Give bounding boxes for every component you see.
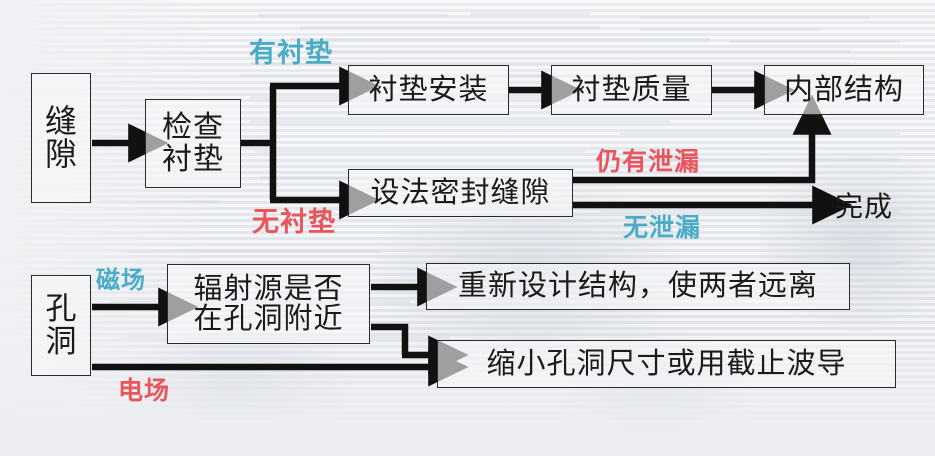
node-internal-structure-label: 内部结构	[784, 75, 904, 105]
background-texture-line	[470, 12, 590, 15]
node-internal-structure[interactable]: 内部结构	[764, 65, 924, 115]
background-texture-line	[255, 150, 585, 153]
background-texture-line	[100, 200, 220, 203]
diagram-canvas: 缝 隙 检查 衬垫 衬垫安装 衬垫质量 内部结构 设法密封缝隙 孔 洞 辐射源是…	[0, 0, 935, 456]
background-texture-line	[120, 250, 380, 253]
node-shrink-hole-label: 缩小孔洞尺寸或用截止波导	[486, 349, 846, 379]
background-texture-line	[640, 28, 820, 31]
background-texture-line	[250, 62, 850, 65]
edge-check-gasket-split	[241, 86, 273, 200]
node-gasket-install-label: 衬垫安装	[368, 75, 488, 105]
background-texture-line	[258, 14, 448, 17]
background-texture-line	[300, 26, 600, 29]
background-texture-line	[320, 50, 850, 53]
node-seal-gap-label: 设法密封缝隙	[370, 178, 550, 208]
background-fade-left	[0, 0, 210, 456]
node-check-gasket-line-2: 衬垫	[162, 144, 224, 175]
background-texture-line	[620, 132, 900, 135]
node-hole[interactable]: 孔 洞	[31, 275, 91, 376]
edge-label-no-gasket: 无衬垫	[252, 200, 336, 239]
edge-label-electric-field: 电场	[118, 371, 170, 407]
node-gasket-quality-label: 衬垫质量	[571, 75, 691, 105]
node-gasket-quality[interactable]: 衬垫质量	[551, 65, 712, 115]
node-source-near-hole[interactable]: 辐射源是否 在孔洞附近	[167, 264, 370, 344]
node-check-gasket[interactable]: 检查 衬垫	[145, 99, 241, 188]
node-gasket-install[interactable]: 衬垫安装	[348, 65, 509, 115]
node-gap-line-1: 缝	[45, 105, 77, 138]
background-texture-line	[640, 16, 870, 19]
edge-label-magnetic-field: 磁场	[96, 260, 146, 295]
background-texture-line	[730, 40, 900, 43]
background-texture-line	[290, 38, 710, 41]
node-seal-gap[interactable]: 设法密封缝隙	[348, 169, 573, 217]
node-gap[interactable]: 缝 隙	[31, 73, 91, 203]
edge-label-still-leaking: 仍有泄漏	[596, 142, 700, 178]
node-gap-line-2: 隙	[45, 138, 77, 171]
background-texture-line	[250, 96, 810, 99]
node-source-near-hole-line-1: 辐射源是否	[193, 274, 343, 304]
node-redesign-label: 重新设计结构，使两者远离	[458, 271, 818, 301]
node-shrink-hole[interactable]: 缩小孔洞尺寸或用截止波导	[437, 340, 896, 388]
node-source-near-hole-line-2: 在孔洞附近	[193, 304, 343, 334]
edge-label-has-gasket: 有衬垫	[249, 31, 333, 70]
edge-label-no-leak: 无泄漏	[623, 208, 701, 244]
node-hole-line-2: 洞	[46, 326, 77, 358]
node-redesign[interactable]: 重新设计结构，使两者远离	[426, 263, 850, 310]
node-hole-line-1: 孔	[46, 293, 77, 325]
edge-label-done: 完成	[835, 185, 893, 225]
node-check-gasket-line-1: 检查	[162, 112, 224, 143]
background-texture-line	[250, 120, 670, 123]
edge-source-to-shrink	[371, 327, 436, 355]
